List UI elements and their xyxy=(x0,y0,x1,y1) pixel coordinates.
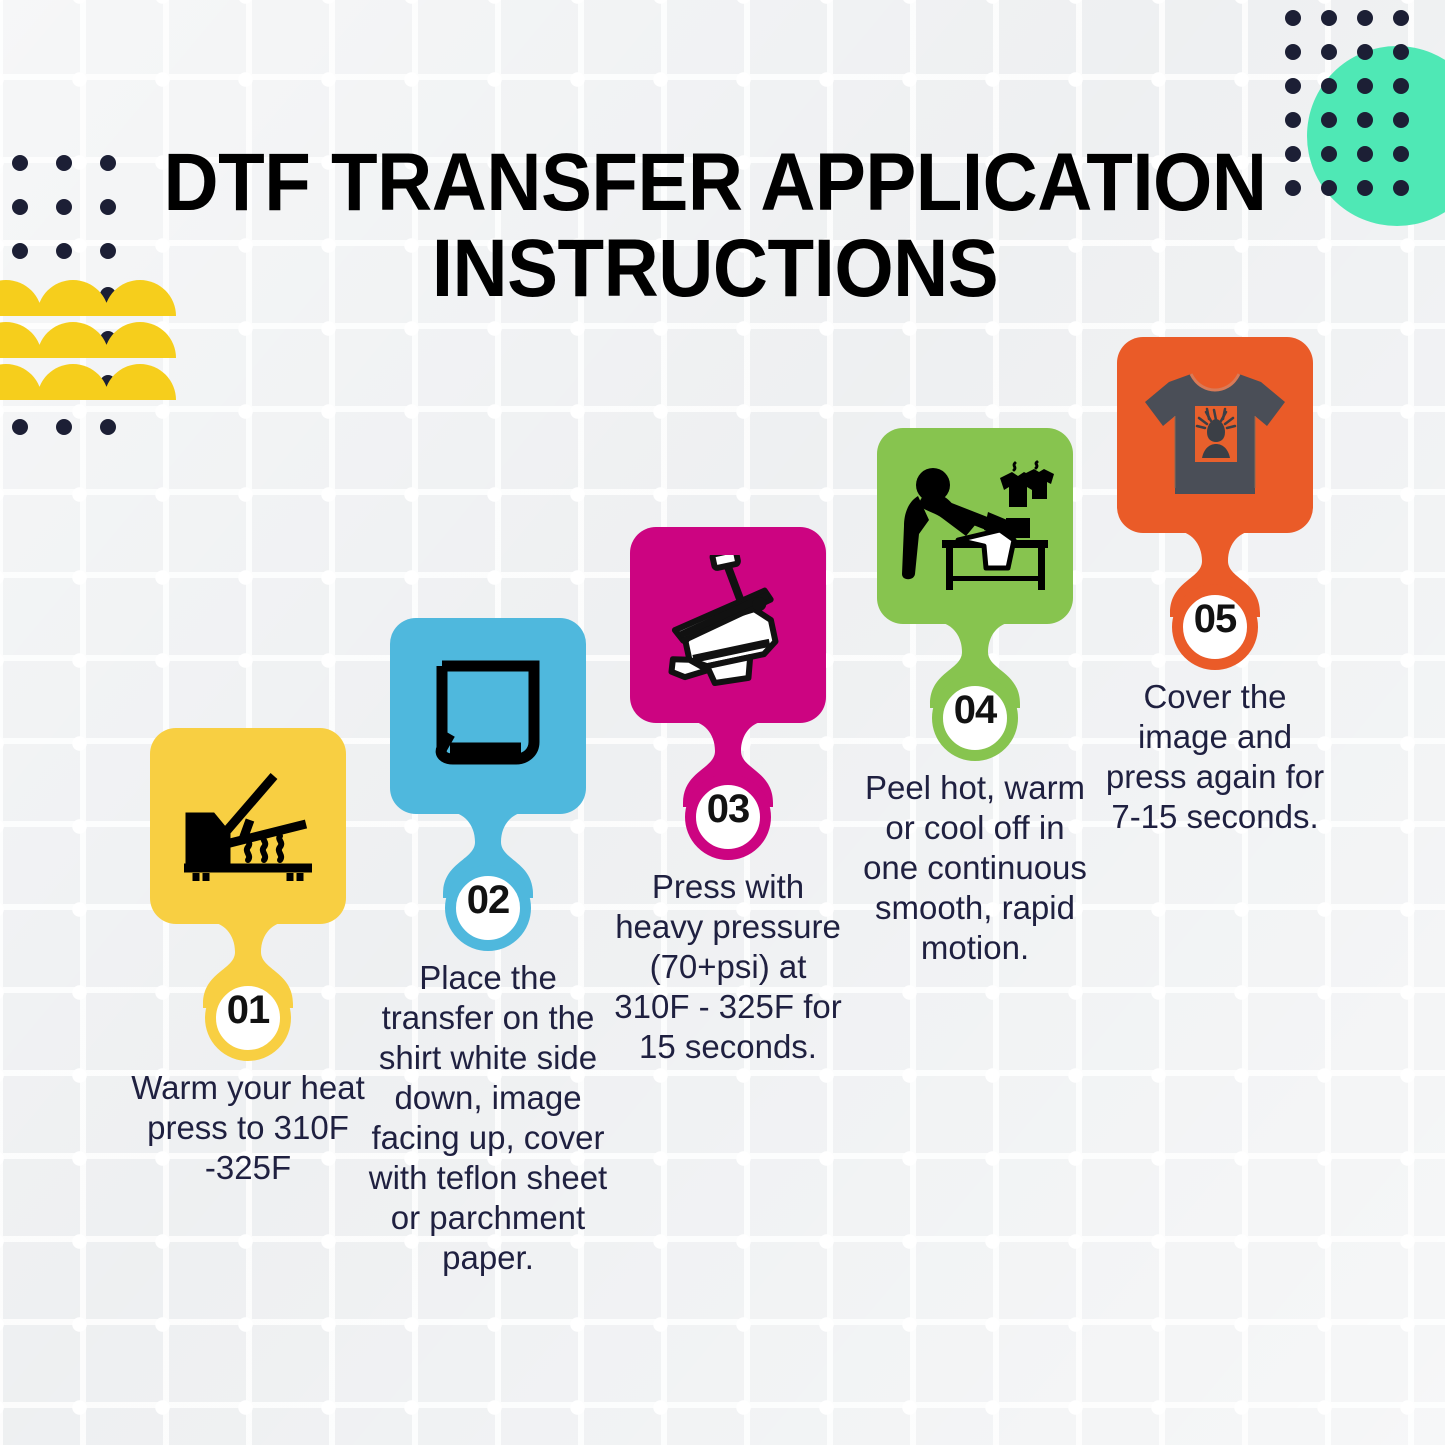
decorative-dot xyxy=(12,243,28,259)
decorative-dot xyxy=(1285,78,1301,94)
decorative-dot xyxy=(56,243,72,259)
decorative-dot xyxy=(1357,180,1373,196)
step-05: 05 Cover the image and press again for 7… xyxy=(1095,337,1335,837)
decorative-dot xyxy=(1285,146,1301,162)
step-04: 04 Peel hot, warm or cool off in one con… xyxy=(855,428,1095,968)
decorative-dot xyxy=(1357,78,1373,94)
step-01-connector: 01 xyxy=(128,924,368,1054)
step-05-connector: 05 xyxy=(1095,533,1335,663)
step-03-connector: 03 xyxy=(608,723,848,853)
decorative-dot xyxy=(1393,112,1409,128)
step-02-icon-card xyxy=(390,618,586,814)
decorative-dot xyxy=(1357,146,1373,162)
decorative-dot xyxy=(1393,44,1409,60)
decorative-dot xyxy=(12,199,28,215)
decorative-dot xyxy=(1285,112,1301,128)
page-title-line-2: INSTRUCTIONS xyxy=(162,226,1269,312)
page-title: DTF TRANSFER APPLICATION INSTRUCTIONS xyxy=(162,140,1269,312)
decorative-dot xyxy=(1285,180,1301,196)
step-02-connector: 02 xyxy=(368,814,608,944)
decorative-dot xyxy=(1285,44,1301,60)
decorative-dot xyxy=(1321,44,1337,60)
step-05-icon-card xyxy=(1117,337,1313,533)
decorative-dot xyxy=(56,155,72,171)
page-title-line-1: DTF TRANSFER APPLICATION xyxy=(162,140,1269,226)
heat-press-machine-icon xyxy=(653,555,803,695)
decorative-arch xyxy=(37,322,109,358)
decorative-arch xyxy=(0,280,42,316)
step-02-number: 02 xyxy=(368,878,608,923)
step-05-description: Cover the image and press again for 7-15… xyxy=(1095,677,1335,837)
arch-pattern-decoration xyxy=(0,280,160,390)
step-04-description: Peel hot, warm or cool off in one contin… xyxy=(855,768,1095,968)
decorative-dot xyxy=(1285,10,1301,26)
decorative-arch xyxy=(0,322,42,358)
step-02-description: Place the transfer on the shirt white si… xyxy=(368,958,608,1278)
dot-grid-top-right xyxy=(1285,10,1409,186)
decorative-dot xyxy=(1321,146,1337,162)
decorative-dot xyxy=(1357,44,1373,60)
heat-press-icon xyxy=(178,768,318,884)
decorative-dot xyxy=(100,243,116,259)
step-04-icon-card xyxy=(877,428,1073,624)
step-04-number: 04 xyxy=(855,688,1095,733)
transfer-sheet-icon xyxy=(429,656,547,776)
decorative-dot xyxy=(1321,10,1337,26)
step-03: 03 Press with heavy pressure (70+psi) at… xyxy=(608,527,848,1067)
decorative-dot xyxy=(1393,10,1409,26)
step-03-icon-card xyxy=(630,527,826,723)
step-01-description: Warm your heat press to 310F -325F xyxy=(128,1068,368,1188)
decorative-arch xyxy=(37,364,109,400)
decorative-dot xyxy=(100,155,116,171)
decorative-dot xyxy=(1357,112,1373,128)
decorative-dot xyxy=(12,419,28,435)
decorative-dot xyxy=(12,155,28,171)
decorative-dot xyxy=(56,419,72,435)
step-03-number: 03 xyxy=(608,787,848,832)
decorative-dot xyxy=(100,199,116,215)
decorative-dot xyxy=(1393,146,1409,162)
step-05-number: 05 xyxy=(1095,597,1335,642)
printed-tshirt-icon xyxy=(1139,368,1291,502)
step-01-number: 01 xyxy=(128,988,368,1033)
person-pressing-icon xyxy=(896,460,1054,592)
decorative-arch xyxy=(0,364,42,400)
decorative-dot xyxy=(100,419,116,435)
infographic-canvas: DTF TRANSFER APPLICATION INSTRUCTIONS xyxy=(0,0,1445,1445)
decorative-dot xyxy=(1393,78,1409,94)
step-03-description: Press with heavy pressure (70+psi) at 31… xyxy=(608,867,848,1067)
decorative-arch xyxy=(37,280,109,316)
decorative-dot xyxy=(1321,180,1337,196)
decorative-dot xyxy=(1321,78,1337,94)
decorative-dot xyxy=(1393,180,1409,196)
step-04-connector: 04 xyxy=(855,624,1095,754)
decorative-dot xyxy=(1357,10,1373,26)
step-01: 01 Warm your heat press to 310F -325F xyxy=(128,728,368,1188)
decorative-dot xyxy=(56,199,72,215)
step-02: 02 Place the transfer on the shirt white… xyxy=(368,618,608,1278)
decorative-dot xyxy=(1321,112,1337,128)
step-01-icon-card xyxy=(150,728,346,924)
